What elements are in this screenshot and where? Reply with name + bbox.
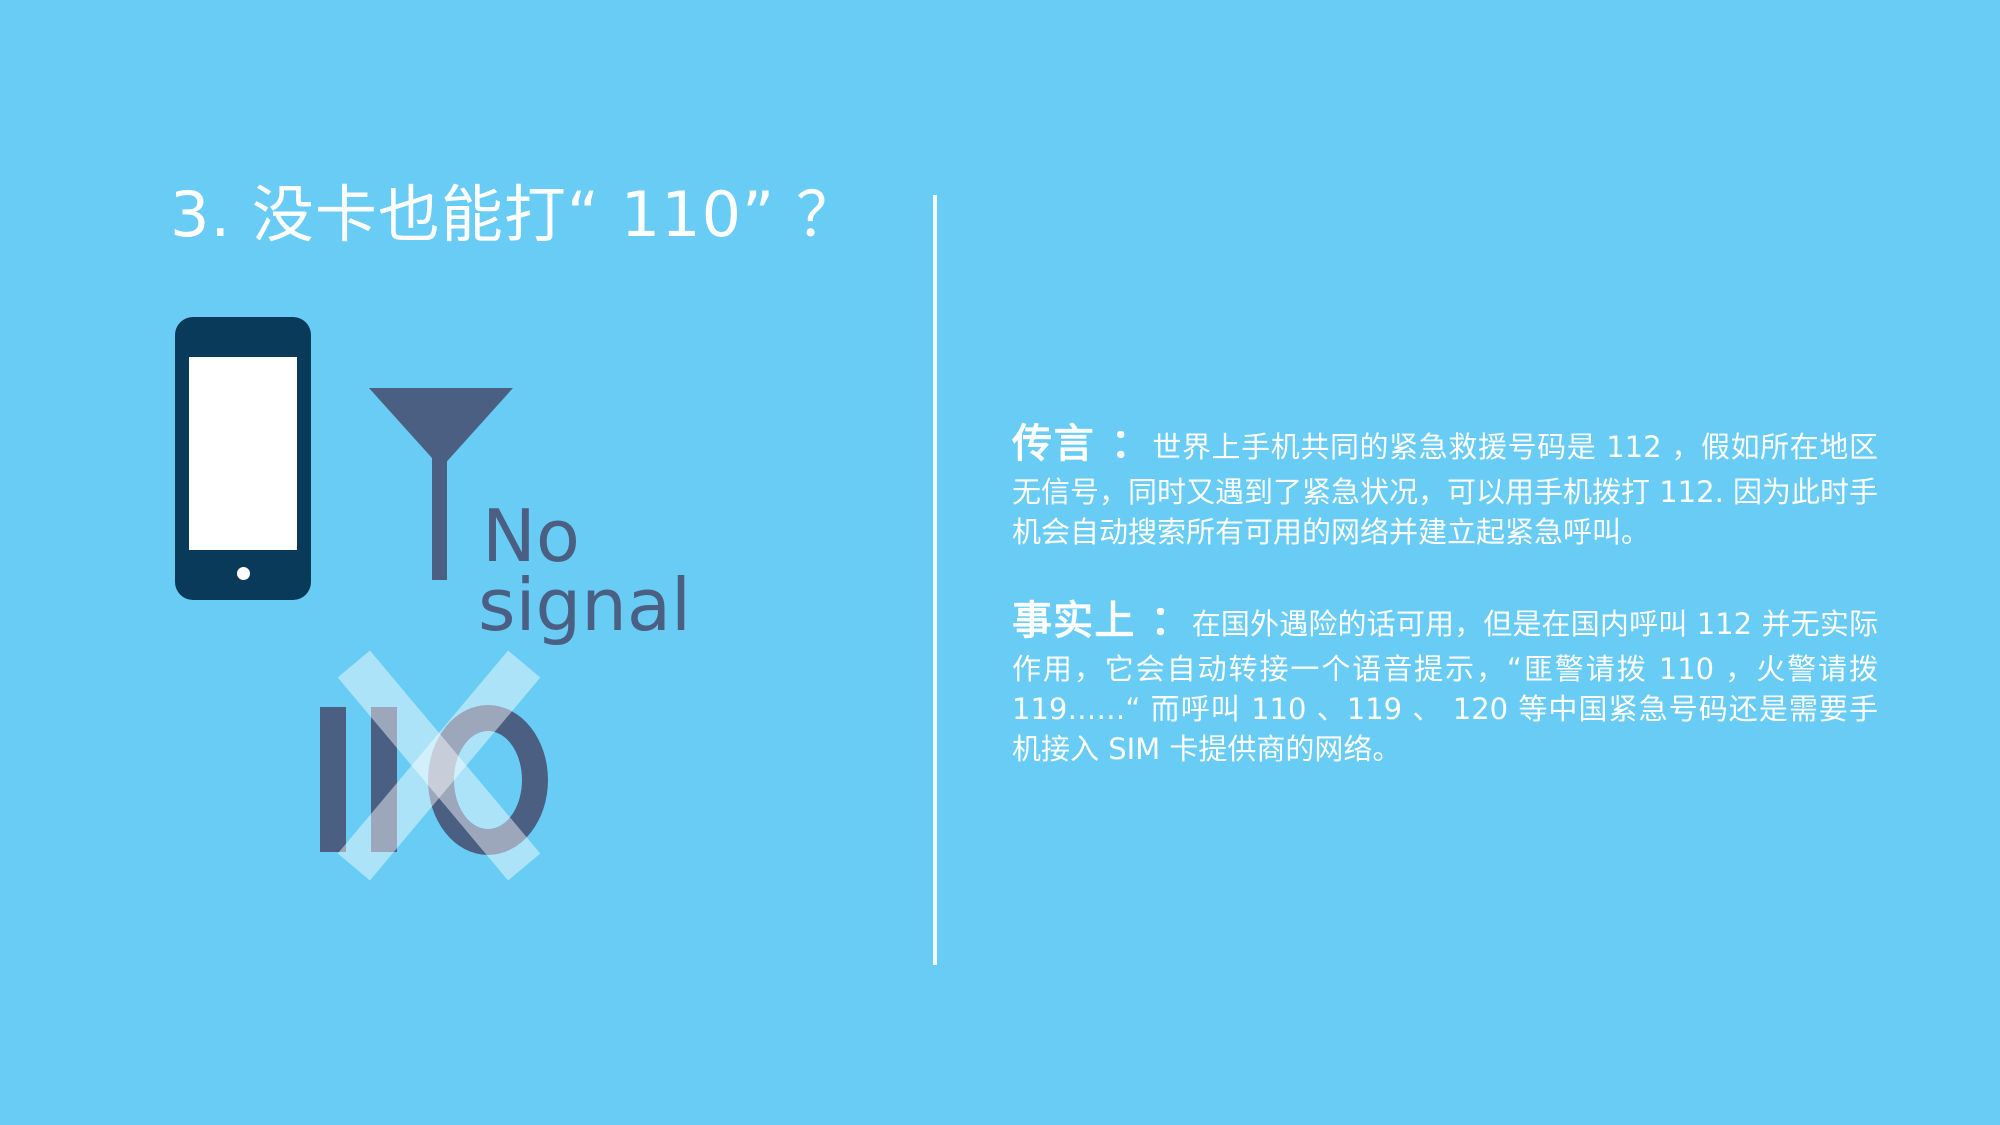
no-signal-caption-line-1: No: [470, 502, 770, 571]
paragraph-rumor-label: 传言 ：: [1012, 421, 1152, 467]
no-signal-caption: No signal: [470, 502, 770, 640]
mark-bar-one-icon: [320, 707, 346, 852]
smartphone-screen: [189, 357, 297, 550]
paragraph-fact: 事实上 ：在国外遇险的话可用，但是在国内呼叫 112 并无实际作用，它会自动转接…: [1012, 594, 1878, 769]
smartphone-icon: [175, 317, 311, 600]
column-divider: [933, 195, 937, 965]
slide-canvas: 3. 没卡也能打“ 110” ？ No signal 传言 ：世界上手机共同的紧…: [0, 0, 2000, 1125]
paragraph-rumor: 传言 ：世界上手机共同的紧急救援号码是 112 ，假如所在地区无信号，同时又遇到…: [1012, 417, 1878, 552]
crossed-out-110-mark: [300, 655, 580, 870]
content-column: 传言 ：世界上手机共同的紧急救援号码是 112 ，假如所在地区无信号，同时又遇到…: [1012, 388, 1878, 798]
page-title: 3. 没卡也能打“ 110” ？: [170, 184, 859, 246]
smartphone-home-button: [237, 567, 250, 580]
paragraph-fact-label: 事实上 ：: [1012, 598, 1192, 644]
no-signal-caption-line-2: signal: [470, 571, 770, 640]
antenna-stem-icon: [432, 455, 447, 580]
